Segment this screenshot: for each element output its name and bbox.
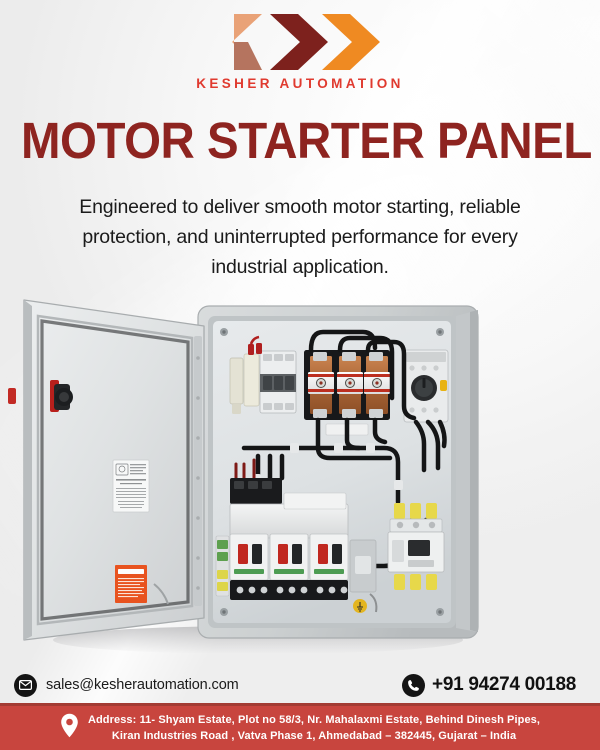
contactor-bank	[230, 478, 348, 600]
poster-canvas: KESHER AUTOMATION MOTOR STARTER PANEL En…	[0, 0, 600, 750]
terminal-block	[216, 536, 229, 596]
surge-protection-module	[230, 354, 259, 414]
phone-icon	[402, 674, 425, 697]
envelope-icon	[14, 674, 37, 697]
miniature-circuit-breaker	[260, 351, 296, 413]
brand-wordmark: KESHER AUTOMATION	[196, 76, 404, 91]
page-title: MOTOR STARTER PANEL	[21, 113, 579, 169]
din-rail	[350, 540, 376, 592]
address-text: Address: 11- Shyam Estate, Plot no 58/3,…	[88, 712, 540, 744]
contact-bar: sales@kesherautomation.com +91 94274 001…	[0, 668, 600, 702]
phone-number: +91 94274 00188	[432, 674, 576, 696]
product-photo	[8, 288, 508, 653]
email-address: sales@kesherautomation.com	[46, 677, 239, 693]
motor-protection-circuit-breaker	[404, 350, 448, 422]
location-pin-icon	[60, 713, 79, 743]
phone-contact[interactable]: +91 94274 00188	[402, 674, 576, 697]
triple-chevron-k-logo-icon	[218, 12, 383, 72]
door-spec-label	[113, 460, 149, 512]
subtitle-line-1: Engineered to deliver smooth motor start…	[79, 196, 454, 218]
page-subtitle: Engineered to deliver smooth motor start…	[56, 192, 544, 282]
address-line-1: Address: 11- Shyam Estate, Plot no 58/3,…	[88, 712, 540, 728]
email-contact[interactable]: sales@kesherautomation.com	[14, 674, 239, 697]
address-bar: Address: 11- Shyam Estate, Plot no 58/3,…	[0, 706, 600, 750]
address-line-2: Kiran Industries Road , Vatva Phase 1, A…	[88, 728, 540, 744]
thermal-overload-relay	[388, 503, 444, 590]
brand-logo: KESHER AUTOMATION	[0, 12, 600, 91]
